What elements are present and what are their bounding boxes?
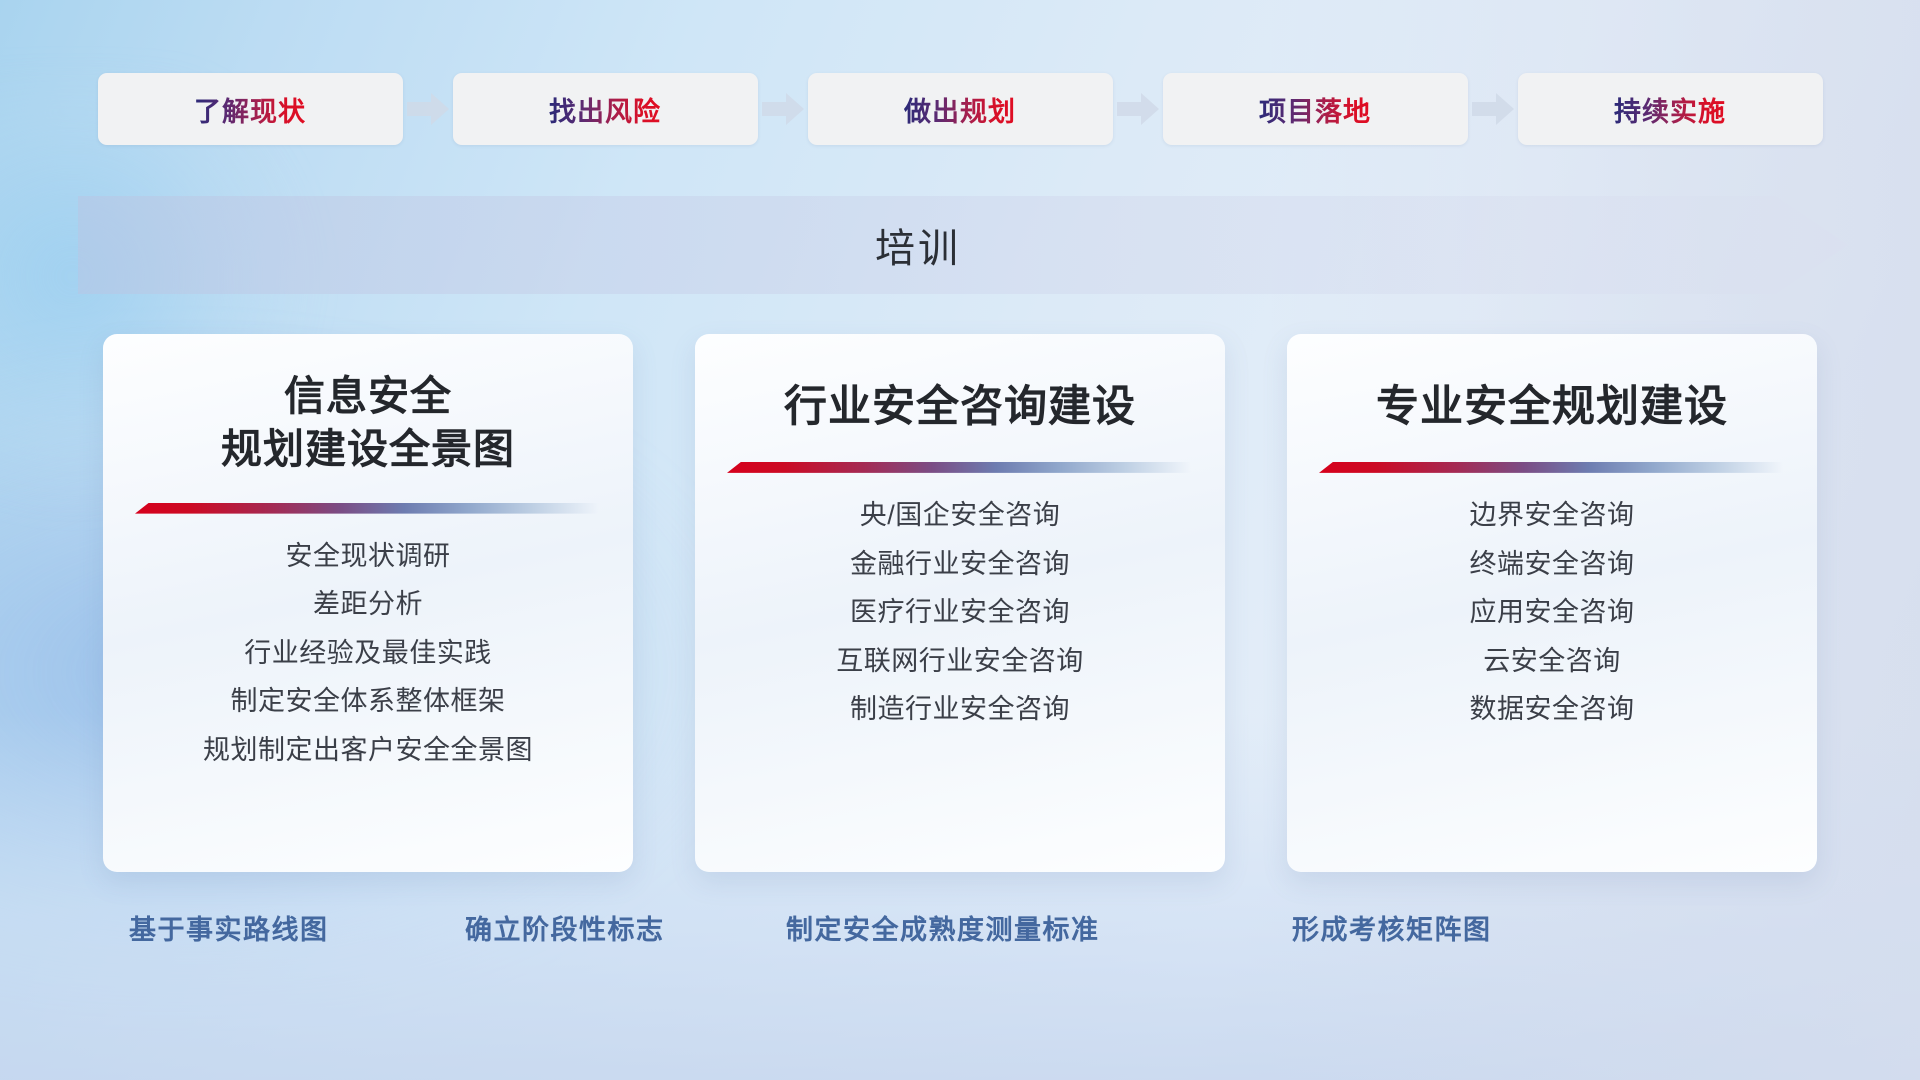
list-item: 规划制定出客户安全全景图 xyxy=(203,733,533,769)
card-list-2: 央/国企安全咨询 金融行业安全咨询 医疗行业安全咨询 互联网行业安全咨询 制造行… xyxy=(695,498,1225,728)
footer-label-1: 基于事实路线图 xyxy=(129,908,329,947)
list-item: 差距分析 xyxy=(313,587,423,623)
list-item: 制造行业安全咨询 xyxy=(850,692,1070,728)
list-item: 央/国企安全咨询 xyxy=(860,498,1061,534)
footer-label-group: 基于事实路线图 确立阶段性标志 制定安全成熟度测量标准 形成考核矩阵图 xyxy=(0,908,1920,956)
list-item: 数据安全咨询 xyxy=(1470,692,1635,728)
card-title-1: 信息安全 规划建设全景图 xyxy=(103,334,633,477)
card-divider-wrap-2 xyxy=(695,454,1225,484)
card-divider-1 xyxy=(135,503,599,514)
card-3[interactable]: 专业安全规划建设 边界安全咨询 终端安全咨询 应用安全咨询 云安全咨询 数据安全… xyxy=(1287,334,1817,872)
step-label-1: 了解现状 xyxy=(194,90,306,129)
list-item: 边界安全咨询 xyxy=(1470,498,1635,534)
step-box-2[interactable]: 找出风险 xyxy=(453,73,758,145)
step-label-2: 找出风险 xyxy=(549,90,661,129)
list-item: 互联网行业安全咨询 xyxy=(836,644,1084,680)
list-item: 安全现状调研 xyxy=(286,539,451,575)
step-arrow-icon-2 xyxy=(758,73,808,145)
list-item: 应用安全咨询 xyxy=(1470,595,1635,631)
step-box-5[interactable]: 持续实施 xyxy=(1518,73,1823,145)
card-2[interactable]: 行业安全咨询建设 央/国企安全咨询 金融行业安全咨询 医疗行业安全咨询 互联网行… xyxy=(695,334,1225,872)
step-arrow-icon-4 xyxy=(1468,73,1518,145)
step-box-4[interactable]: 项目落地 xyxy=(1163,73,1468,145)
card-divider-2 xyxy=(727,462,1191,473)
footer-label-4: 形成考核矩阵图 xyxy=(1292,908,1492,947)
card-divider-wrap-3 xyxy=(1287,454,1817,484)
step-label-3: 做出规划 xyxy=(904,90,1016,129)
step-label-5: 持续实施 xyxy=(1614,90,1726,129)
training-banner: 培训 xyxy=(78,196,1848,294)
process-step-flow: 了解现状 找出风险 做出规划 项目落地 持续实施 xyxy=(0,73,1920,145)
footer-label-3: 制定安全成熟度测量标准 xyxy=(786,908,1100,947)
card-list-1: 安全现状调研 差距分析 行业经验及最佳实践 制定安全体系整体框架 规划制定出客户… xyxy=(103,539,633,769)
footer-label-2: 确立阶段性标志 xyxy=(465,908,665,947)
card-title-3: 专业安全规划建设 xyxy=(1287,334,1817,436)
card-divider-3 xyxy=(1319,462,1783,473)
list-item: 医疗行业安全咨询 xyxy=(850,595,1070,631)
step-arrow-icon-1 xyxy=(403,73,453,145)
training-banner-label: 培训 xyxy=(78,196,1848,294)
card-title-2: 行业安全咨询建设 xyxy=(695,334,1225,436)
step-label-4: 项目落地 xyxy=(1259,90,1371,129)
list-item: 金融行业安全咨询 xyxy=(850,547,1070,583)
list-item: 制定安全体系整体框架 xyxy=(231,684,506,720)
card-1[interactable]: 信息安全 规划建设全景图 安全现状调研 差距分析 行业经验及最佳实践 制定安全体… xyxy=(103,334,633,872)
card-divider-wrap-1 xyxy=(103,495,633,525)
list-item: 云安全咨询 xyxy=(1483,644,1621,680)
card-list-3: 边界安全咨询 终端安全咨询 应用安全咨询 云安全咨询 数据安全咨询 xyxy=(1287,498,1817,728)
step-box-3[interactable]: 做出规划 xyxy=(808,73,1113,145)
step-arrow-icon-3 xyxy=(1113,73,1163,145)
list-item: 行业经验及最佳实践 xyxy=(244,636,492,672)
step-box-1[interactable]: 了解现状 xyxy=(98,73,403,145)
card-group: 信息安全 规划建设全景图 安全现状调研 差距分析 行业经验及最佳实践 制定安全体… xyxy=(0,334,1920,872)
list-item: 终端安全咨询 xyxy=(1470,547,1635,583)
